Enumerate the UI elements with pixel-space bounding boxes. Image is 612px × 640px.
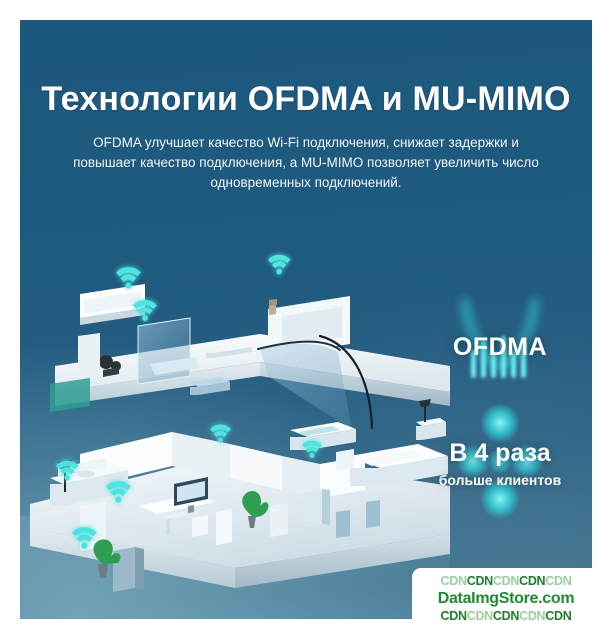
feature-clients-label: В 4 раза: [408, 418, 592, 468]
smart-home-illustration: [20, 216, 450, 619]
watermark-cdn-bottom: CDNCDNCDNCDNCDN: [412, 608, 600, 624]
promo-banner: Технологии OFDMA и MU-MIMO OFDMA улучшае…: [20, 20, 592, 619]
page-title: Технологии OFDMA и MU-MIMO: [20, 80, 592, 119]
cdn-token: CDN: [441, 609, 467, 623]
cdn-token: CDN: [519, 609, 545, 623]
watermark-cdn-top: CDNCDNCDNCDNCDN: [412, 573, 600, 589]
feature-clients-sublabel: больше клиентов: [408, 470, 592, 490]
cdn-token: CDN: [545, 574, 571, 588]
screenshot-root: Технологии OFDMA и MU-MIMO OFDMA улучшае…: [0, 0, 612, 640]
page-subtitle: OFDMA улучшает качество Wi-Fi подключени…: [66, 133, 546, 193]
cdn-token: CDN: [441, 574, 467, 588]
feature-ofdma-label: OFDMA: [453, 333, 547, 361]
feature-clients: В 4 раза больше клиентов: [408, 418, 592, 504]
cdn-token: CDN: [519, 574, 545, 588]
cdn-token: CDN: [493, 609, 519, 623]
cdn-token: CDN: [545, 609, 571, 623]
watermark-site-name: DataImgStore.com: [412, 589, 600, 608]
cdn-token: CDN: [467, 574, 493, 588]
cdn-token: CDN: [467, 609, 493, 623]
feature-ofdma: OFDMA: [408, 304, 592, 390]
watermark: CDNCDNCDNCDNCDN DataImgStore.com CDNCDNC…: [412, 568, 600, 625]
cdn-token: CDN: [493, 574, 519, 588]
air-conditioner: [80, 284, 145, 325]
